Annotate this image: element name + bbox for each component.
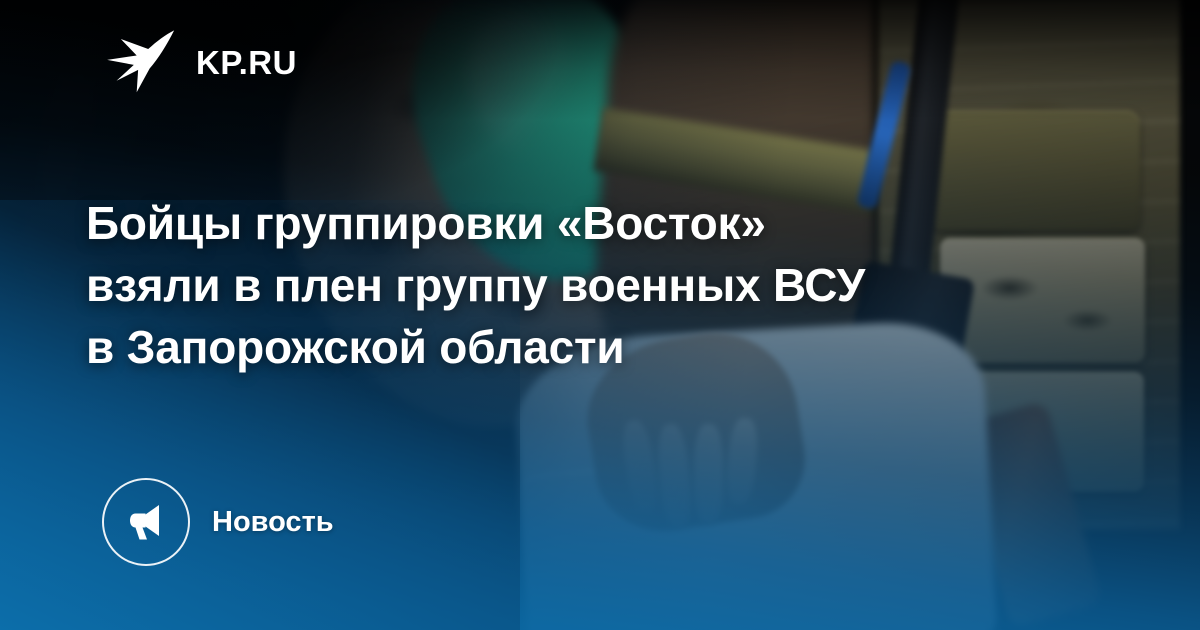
headline-line: взяли в плен группу военных ВСУ xyxy=(86,254,1086,316)
status-badge-label: Новость xyxy=(212,508,334,537)
status-badge[interactable]: Новость xyxy=(102,478,334,566)
megaphone-icon xyxy=(102,478,190,566)
swallow-bird-icon xyxy=(104,26,178,98)
brand-logo[interactable]: KP.RU xyxy=(104,32,297,92)
news-share-card: KP.RU Бойцы группировки «Восток» взяли в… xyxy=(0,0,1200,630)
brand-name: KP.RU xyxy=(196,46,297,79)
page-title: Бойцы группировки «Восток» взяли в плен … xyxy=(86,192,1086,378)
card-content: KP.RU Бойцы группировки «Восток» взяли в… xyxy=(0,0,1200,630)
headline-line: в Запорожской области xyxy=(86,316,1086,378)
headline-line: Бойцы группировки «Восток» xyxy=(86,192,1086,254)
